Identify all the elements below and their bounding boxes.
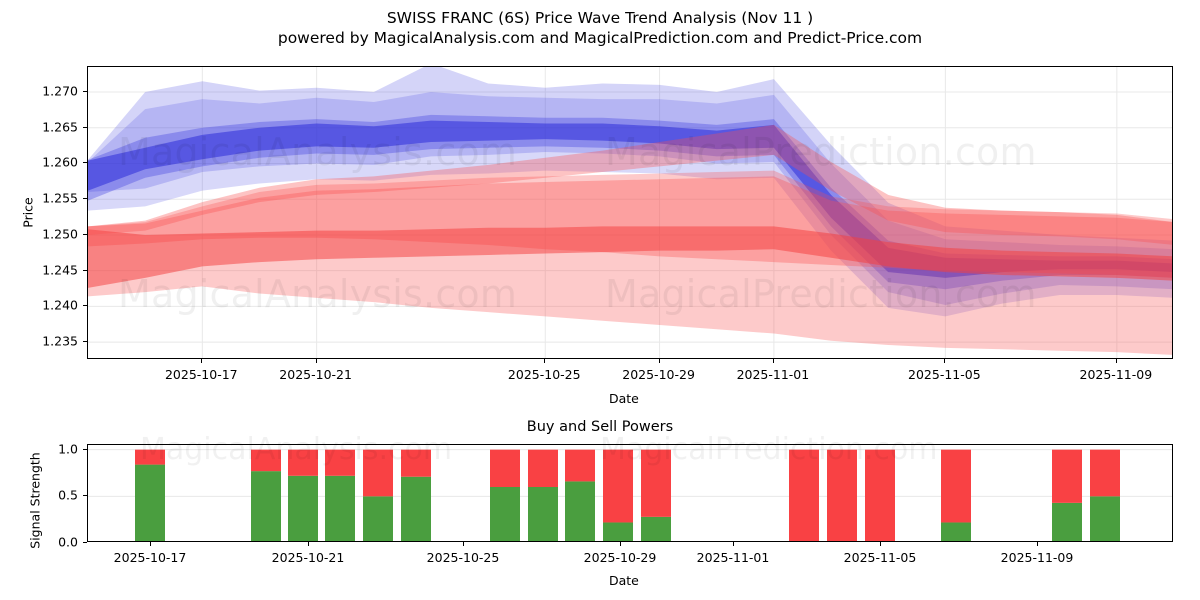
price-xtick-label: 2025-11-01 <box>737 367 810 382</box>
price-ytick-mark <box>83 91 87 92</box>
sell-power-bar[interactable] <box>401 450 431 477</box>
buy-power-bar[interactable] <box>603 522 633 542</box>
buy-sell-powers-plot-area[interactable] <box>87 444 1173 542</box>
price-ytick-mark <box>83 270 87 271</box>
sell-power-bar[interactable] <box>603 450 633 523</box>
price-xtick-mark <box>944 359 945 363</box>
page-title: SWISS FRANC (6S) Price Wave Trend Analys… <box>0 8 1200 28</box>
sell-power-bar[interactable] <box>528 450 558 487</box>
signal-xtick-label: 2025-10-29 <box>584 550 657 565</box>
buy-power-bar[interactable] <box>363 496 393 542</box>
sell-power-bar[interactable] <box>135 450 165 465</box>
signal-xtick-label: 2025-10-25 <box>427 550 500 565</box>
buy-power-bar[interactable] <box>325 476 355 542</box>
signal-ytick-mark <box>83 495 87 496</box>
signal-xtick-mark <box>1037 542 1038 546</box>
signal-y-axis-label: Signal Strength <box>28 446 43 556</box>
buy-sell-bars-svg <box>88 445 1173 542</box>
signal-xtick-label: 2025-11-01 <box>697 550 770 565</box>
buy-power-bar[interactable] <box>1090 496 1120 542</box>
signal-xtick-mark <box>308 542 309 546</box>
price-y-axis-label: Price <box>21 183 36 243</box>
buy-power-bar[interactable] <box>135 465 165 542</box>
price-x-axis-label: Date <box>609 391 639 406</box>
signal-xtick-mark <box>620 542 621 546</box>
price-xtick-label: 2025-10-29 <box>622 367 695 382</box>
buy-power-bar[interactable] <box>288 476 318 542</box>
price-xtick-mark <box>316 359 317 363</box>
signal-x-axis-label: Date <box>609 573 639 588</box>
price-ytick-label: 1.240 <box>22 298 78 313</box>
price-xtick-label: 2025-10-21 <box>279 367 352 382</box>
signal-ytick-mark <box>83 449 87 450</box>
buy-power-bar[interactable] <box>1052 503 1082 542</box>
signal-xtick-mark <box>733 542 734 546</box>
price-xtick-mark <box>1116 359 1117 363</box>
sell-power-bar[interactable] <box>1090 450 1120 497</box>
price-ytick-mark <box>83 305 87 306</box>
sell-power-bar[interactable] <box>251 450 281 471</box>
signal-xtick-mark <box>150 542 151 546</box>
price-xtick-mark <box>659 359 660 363</box>
price-xtick-mark <box>201 359 202 363</box>
sell-power-bar[interactable] <box>565 450 595 482</box>
price-ytick-mark <box>83 127 87 128</box>
signal-xtick-label: 2025-10-21 <box>272 550 345 565</box>
sell-power-bar[interactable] <box>641 450 671 517</box>
page-subtitle: powered by MagicalAnalysis.com and Magic… <box>0 28 1200 48</box>
price-xtick-label: 2025-11-05 <box>908 367 981 382</box>
price-wave-plot-area[interactable] <box>87 66 1173 359</box>
price-ytick-label: 1.265 <box>22 119 78 134</box>
buy-power-bar[interactable] <box>565 481 595 542</box>
buy-sell-powers-title: Buy and Sell Powers <box>0 419 1200 435</box>
chart-title-block: SWISS FRANC (6S) Price Wave Trend Analys… <box>0 8 1200 48</box>
price-band-svg <box>88 67 1173 359</box>
price-xtick-mark <box>544 359 545 363</box>
signal-ytick-mark <box>83 542 87 543</box>
price-xtick-label: 2025-10-17 <box>165 367 238 382</box>
sell-power-bar[interactable] <box>1052 450 1082 503</box>
price-ytick-label: 1.245 <box>22 262 78 277</box>
price-ytick-label: 1.235 <box>22 334 78 349</box>
price-xtick-label: 2025-10-25 <box>508 367 581 382</box>
sell-power-bar[interactable] <box>827 450 857 542</box>
price-xtick-mark <box>773 359 774 363</box>
price-ytick-mark <box>83 341 87 342</box>
buy-power-bar[interactable] <box>251 471 281 542</box>
buy-power-bar[interactable] <box>490 487 520 542</box>
price-ytick-mark <box>83 162 87 163</box>
sell-power-bar[interactable] <box>789 450 819 542</box>
signal-xtick-mark <box>880 542 881 546</box>
buy-power-bar[interactable] <box>641 517 671 542</box>
price-ytick-label: 1.270 <box>22 84 78 99</box>
sell-power-bar[interactable] <box>363 450 393 497</box>
signal-xtick-label: 2025-11-09 <box>1001 550 1074 565</box>
signal-xtick-label: 2025-10-17 <box>114 550 187 565</box>
sell-power-bar[interactable] <box>490 450 520 487</box>
price-xtick-label: 2025-11-09 <box>1080 367 1153 382</box>
price-ytick-label: 1.260 <box>22 155 78 170</box>
buy-power-bar[interactable] <box>528 487 558 542</box>
sell-power-bar[interactable] <box>325 450 355 476</box>
buy-power-bar[interactable] <box>941 522 971 542</box>
price-ytick-mark <box>83 234 87 235</box>
sell-power-bar[interactable] <box>288 450 318 476</box>
sell-power-bar[interactable] <box>941 450 971 523</box>
price-ytick-mark <box>83 198 87 199</box>
signal-xtick-label: 2025-11-05 <box>844 550 917 565</box>
buy-power-bar[interactable] <box>401 477 431 542</box>
signal-xtick-mark <box>463 542 464 546</box>
sell-power-bar[interactable] <box>865 450 895 542</box>
